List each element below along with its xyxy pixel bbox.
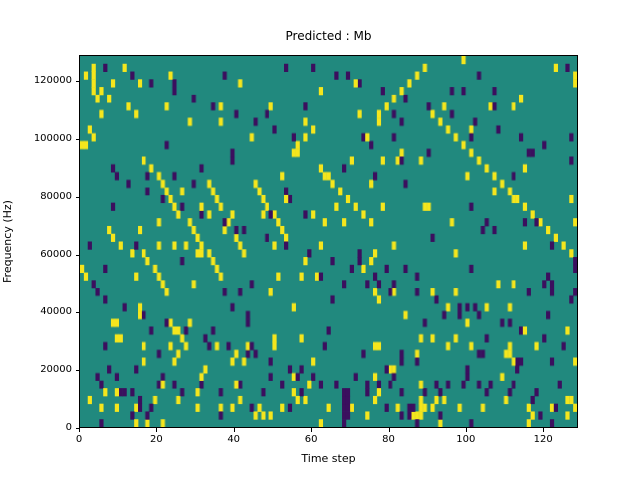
y-tick-mark — [76, 312, 80, 313]
x-tick-mark — [79, 428, 80, 432]
y-tick-label: 100000 — [34, 133, 72, 145]
x-tick-label: 80 — [382, 434, 395, 446]
heatmap-axes — [79, 55, 578, 428]
y-tick-mark — [76, 197, 80, 198]
y-tick-mark — [76, 139, 80, 140]
y-tick-label: 60000 — [40, 249, 72, 261]
y-tick-label: 120000 — [34, 75, 72, 87]
y-tick-mark — [76, 255, 80, 256]
x-tick-mark — [234, 428, 235, 432]
y-tick-label: 40000 — [40, 306, 72, 318]
x-tick-mark — [156, 428, 157, 432]
y-tick-mark — [76, 428, 80, 429]
x-tick-label: 0 — [76, 434, 82, 446]
y-tick-label: 0 — [66, 422, 72, 434]
x-tick-label: 60 — [305, 434, 318, 446]
y-axis-label: Frequency (Hz) — [0, 55, 16, 428]
x-tick-label: 120 — [534, 434, 553, 446]
y-tick-label: 80000 — [40, 191, 72, 203]
x-tick-mark — [311, 428, 312, 432]
x-tick-label: 100 — [456, 434, 475, 446]
heatmap-image — [80, 56, 577, 427]
y-tick-label: 20000 — [40, 364, 72, 376]
x-tick-label: 40 — [227, 434, 240, 446]
x-axis-label: Time step — [79, 452, 578, 465]
page-title: Predicted : Mb — [79, 29, 578, 43]
x-tick-mark — [543, 428, 544, 432]
y-tick-mark — [76, 81, 80, 82]
x-tick-label: 20 — [150, 434, 163, 446]
x-tick-mark — [466, 428, 467, 432]
y-tick-mark — [76, 370, 80, 371]
x-tick-mark — [389, 428, 390, 432]
matplotlib-figure: Predicted : Mb 020406080100120 020000400… — [0, 0, 640, 480]
